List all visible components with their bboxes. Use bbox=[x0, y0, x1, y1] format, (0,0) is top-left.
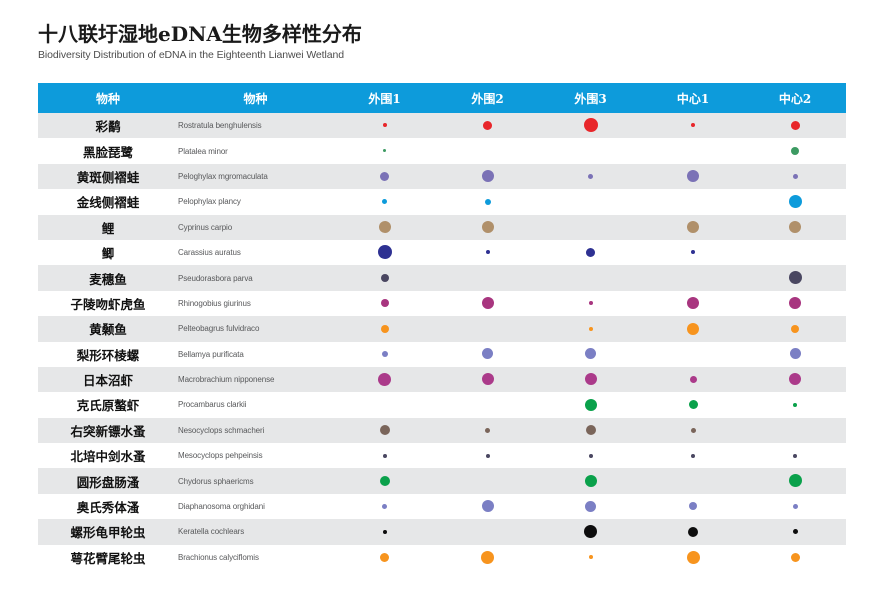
abundance-dot bbox=[585, 501, 596, 512]
abundance-dot bbox=[383, 149, 386, 152]
abundance-dot bbox=[793, 403, 797, 407]
column-header-3: 外围2 bbox=[436, 83, 539, 113]
abundance-cell bbox=[744, 443, 846, 468]
abundance-dot bbox=[586, 425, 596, 435]
abundance-cell bbox=[642, 240, 744, 265]
table-row: 梨形环棱螺Bellamya purificata bbox=[38, 342, 846, 367]
abundance-dot bbox=[486, 250, 490, 254]
biodiversity-matrix-table: 物种物种外围1外围2外围3中心1中心2 彩鹬Rostratula benghul… bbox=[38, 83, 846, 570]
species-name-latin: Chydorus sphaericms bbox=[178, 468, 333, 493]
abundance-cell bbox=[539, 468, 642, 493]
abundance-dot bbox=[586, 248, 595, 257]
abundance-dot bbox=[687, 551, 700, 564]
abundance-dot bbox=[482, 500, 494, 512]
page-title: 十八联圩湿地eDNA生物多样性分布 bbox=[38, 22, 362, 46]
species-name-latin: Mesocyclops pehpeinsis bbox=[178, 443, 333, 468]
abundance-cell bbox=[642, 215, 744, 240]
abundance-cell bbox=[642, 189, 744, 214]
table-row: 黄斑侧褶蛙Peloghylax mgromaculata bbox=[38, 164, 846, 189]
abundance-cell bbox=[744, 367, 846, 392]
abundance-cell bbox=[744, 494, 846, 519]
abundance-cell bbox=[642, 367, 744, 392]
abundance-dot bbox=[482, 221, 494, 233]
abundance-dot bbox=[793, 504, 798, 509]
abundance-cell bbox=[744, 240, 846, 265]
abundance-cell bbox=[744, 342, 846, 367]
abundance-dot bbox=[584, 118, 598, 132]
abundance-cell bbox=[333, 113, 436, 138]
abundance-dot bbox=[585, 348, 596, 359]
abundance-dot bbox=[687, 323, 699, 335]
abundance-cell bbox=[436, 164, 539, 189]
abundance-cell bbox=[436, 367, 539, 392]
abundance-cell bbox=[333, 494, 436, 519]
column-header-2: 外围1 bbox=[333, 83, 436, 113]
column-header-4: 外围3 bbox=[539, 83, 642, 113]
abundance-cell bbox=[642, 468, 744, 493]
column-header-6: 中心2 bbox=[744, 83, 846, 113]
abundance-cell bbox=[642, 494, 744, 519]
abundance-cell bbox=[333, 392, 436, 417]
abundance-cell bbox=[539, 240, 642, 265]
species-name-cn: 鲤 bbox=[38, 215, 178, 240]
abundance-cell bbox=[744, 291, 846, 316]
abundance-dot bbox=[791, 553, 800, 562]
abundance-dot bbox=[380, 172, 389, 181]
species-name-cn: 彩鹬 bbox=[38, 113, 178, 138]
abundance-dot bbox=[585, 373, 597, 385]
abundance-dot bbox=[486, 454, 490, 458]
abundance-dot bbox=[380, 553, 389, 562]
abundance-dot bbox=[789, 474, 802, 487]
abundance-cell bbox=[436, 545, 539, 570]
abundance-cell bbox=[539, 113, 642, 138]
species-name-cn: 右突新镖水蚤 bbox=[38, 418, 178, 443]
species-name-cn: 黑脸琵鹭 bbox=[38, 138, 178, 163]
species-name-latin: Cyprinus carpio bbox=[178, 215, 333, 240]
abundance-cell bbox=[744, 138, 846, 163]
species-name-latin: Rhinogobius giurinus bbox=[178, 291, 333, 316]
abundance-dot bbox=[382, 351, 388, 357]
species-name-latin: Rostratula benghulensis bbox=[178, 113, 333, 138]
abundance-dot bbox=[482, 297, 494, 309]
species-name-cn: 克氏原螯虾 bbox=[38, 392, 178, 417]
abundance-dot bbox=[689, 400, 698, 409]
abundance-cell bbox=[333, 215, 436, 240]
abundance-dot bbox=[381, 325, 389, 333]
table-row: 麦穗鱼Pseudorasbora parva bbox=[38, 265, 846, 290]
table-row: 北培中剑水蚤Mesocyclops pehpeinsis bbox=[38, 443, 846, 468]
abundance-cell bbox=[333, 468, 436, 493]
table-row: 圆形盘肠溞Chydorus sphaericms bbox=[38, 468, 846, 493]
abundance-cell bbox=[333, 240, 436, 265]
abundance-dot bbox=[589, 555, 593, 559]
abundance-cell bbox=[744, 189, 846, 214]
abundance-cell bbox=[744, 392, 846, 417]
species-name-latin: Pelteobagrus fulvidraco bbox=[178, 316, 333, 341]
abundance-cell bbox=[333, 265, 436, 290]
title-block: 十八联圩湿地eDNA生物多样性分布 Biodiversity Distribut… bbox=[38, 22, 362, 61]
abundance-cell bbox=[642, 392, 744, 417]
abundance-cell bbox=[436, 291, 539, 316]
abundance-cell bbox=[642, 545, 744, 570]
abundance-cell bbox=[744, 215, 846, 240]
column-header-5: 中心1 bbox=[642, 83, 744, 113]
column-header-1: 物种 bbox=[178, 83, 333, 113]
abundance-dot bbox=[584, 525, 597, 538]
abundance-cell bbox=[539, 215, 642, 240]
species-name-latin: Platalea minor bbox=[178, 138, 333, 163]
abundance-dot bbox=[485, 428, 490, 433]
abundance-cell bbox=[539, 519, 642, 544]
species-name-cn: 黄颡鱼 bbox=[38, 316, 178, 341]
abundance-cell bbox=[333, 443, 436, 468]
abundance-cell bbox=[333, 316, 436, 341]
abundance-cell bbox=[744, 113, 846, 138]
abundance-dot bbox=[483, 121, 492, 130]
abundance-cell bbox=[333, 418, 436, 443]
page-root: 十八联圩湿地eDNA生物多样性分布 Biodiversity Distribut… bbox=[0, 0, 895, 613]
species-name-latin: Brachionus calyciflomis bbox=[178, 545, 333, 570]
abundance-cell bbox=[642, 316, 744, 341]
abundance-cell bbox=[333, 164, 436, 189]
abundance-dot bbox=[793, 529, 798, 534]
abundance-dot bbox=[383, 123, 387, 127]
abundance-dot bbox=[687, 297, 699, 309]
table-header-row: 物种物种外围1外围2外围3中心1中心2 bbox=[38, 83, 846, 113]
species-name-cn: 奥氏秀体溞 bbox=[38, 494, 178, 519]
abundance-cell bbox=[436, 215, 539, 240]
table-row: 右突新镖水蚤Nesocyclops schmacheri bbox=[38, 418, 846, 443]
abundance-cell bbox=[436, 189, 539, 214]
abundance-dot bbox=[381, 299, 389, 307]
abundance-cell bbox=[642, 519, 744, 544]
abundance-cell bbox=[744, 265, 846, 290]
table-row: 黄颡鱼Pelteobagrus fulvidraco bbox=[38, 316, 846, 341]
abundance-dot bbox=[482, 373, 494, 385]
abundance-cell bbox=[436, 138, 539, 163]
abundance-cell bbox=[539, 164, 642, 189]
table-row: 奥氏秀体溞Diaphanosoma orghidani bbox=[38, 494, 846, 519]
abundance-cell bbox=[539, 316, 642, 341]
abundance-cell bbox=[642, 291, 744, 316]
species-name-cn: 梨形环棱螺 bbox=[38, 342, 178, 367]
abundance-cell bbox=[436, 494, 539, 519]
abundance-cell bbox=[436, 418, 539, 443]
abundance-cell bbox=[539, 418, 642, 443]
table-row: 日本沼虾Macrobrachium nipponense bbox=[38, 367, 846, 392]
abundance-dot bbox=[485, 199, 491, 205]
abundance-cell bbox=[539, 392, 642, 417]
abundance-cell bbox=[744, 418, 846, 443]
table-body: 彩鹬Rostratula benghulensis黑脸琵鹭Platalea mi… bbox=[38, 113, 846, 570]
abundance-cell bbox=[333, 342, 436, 367]
abundance-cell bbox=[744, 164, 846, 189]
abundance-cell bbox=[539, 494, 642, 519]
table-row: 鲤Cyprinus carpio bbox=[38, 215, 846, 240]
abundance-dot bbox=[791, 121, 800, 130]
abundance-cell bbox=[436, 113, 539, 138]
abundance-dot bbox=[382, 199, 387, 204]
abundance-dot bbox=[378, 373, 391, 386]
table-row: 金线侧褶蛙Pelophylax plancy bbox=[38, 189, 846, 214]
abundance-dot bbox=[791, 147, 799, 155]
abundance-cell bbox=[744, 468, 846, 493]
abundance-dot bbox=[589, 454, 593, 458]
abundance-cell bbox=[539, 138, 642, 163]
abundance-dot bbox=[691, 123, 695, 127]
abundance-cell bbox=[436, 316, 539, 341]
abundance-dot bbox=[688, 527, 698, 537]
abundance-cell bbox=[436, 519, 539, 544]
abundance-dot bbox=[789, 195, 802, 208]
abundance-cell bbox=[436, 443, 539, 468]
table-row: 鲫Carassius auratus bbox=[38, 240, 846, 265]
abundance-cell bbox=[333, 138, 436, 163]
abundance-cell bbox=[642, 342, 744, 367]
species-name-cn: 子陵吻虾虎鱼 bbox=[38, 291, 178, 316]
abundance-dot bbox=[690, 376, 697, 383]
abundance-cell bbox=[436, 392, 539, 417]
page-subtitle: Biodiversity Distribution of eDNA in the… bbox=[38, 49, 362, 61]
abundance-dot bbox=[793, 454, 797, 458]
abundance-dot bbox=[482, 170, 494, 182]
abundance-dot bbox=[589, 327, 593, 331]
abundance-dot bbox=[380, 425, 390, 435]
abundance-dot bbox=[789, 373, 801, 385]
abundance-dot bbox=[589, 301, 593, 305]
abundance-dot bbox=[378, 245, 392, 259]
species-name-cn: 螺形龟甲轮虫 bbox=[38, 519, 178, 544]
table-head: 物种物种外围1外围2外围3中心1中心2 bbox=[38, 83, 846, 113]
abundance-dot bbox=[689, 502, 697, 510]
abundance-dot bbox=[687, 170, 699, 182]
abundance-dot bbox=[687, 221, 699, 233]
abundance-dot bbox=[381, 274, 389, 282]
abundance-cell bbox=[642, 265, 744, 290]
abundance-dot bbox=[585, 475, 597, 487]
abundance-cell bbox=[333, 189, 436, 214]
species-name-latin: Peloghylax mgromaculata bbox=[178, 164, 333, 189]
species-name-cn: 黄斑侧褶蛙 bbox=[38, 164, 178, 189]
species-name-cn: 鲫 bbox=[38, 240, 178, 265]
species-name-latin: Diaphanosoma orghidani bbox=[178, 494, 333, 519]
abundance-dot bbox=[691, 454, 695, 458]
abundance-cell bbox=[436, 342, 539, 367]
abundance-dot bbox=[383, 454, 387, 458]
abundance-cell bbox=[333, 519, 436, 544]
abundance-cell bbox=[539, 189, 642, 214]
abundance-dot bbox=[382, 504, 387, 509]
abundance-cell bbox=[744, 316, 846, 341]
abundance-dot bbox=[482, 348, 493, 359]
abundance-cell bbox=[333, 291, 436, 316]
abundance-dot bbox=[691, 428, 696, 433]
abundance-cell bbox=[436, 468, 539, 493]
abundance-cell bbox=[642, 113, 744, 138]
abundance-cell bbox=[436, 240, 539, 265]
species-name-latin: Bellamya purificata bbox=[178, 342, 333, 367]
abundance-dot bbox=[789, 221, 801, 233]
abundance-dot bbox=[789, 271, 802, 284]
species-name-cn: 麦穗鱼 bbox=[38, 265, 178, 290]
abundance-dot bbox=[791, 325, 799, 333]
abundance-cell bbox=[642, 164, 744, 189]
abundance-dot bbox=[790, 348, 801, 359]
species-name-latin: Pelophylax plancy bbox=[178, 189, 333, 214]
abundance-dot bbox=[379, 221, 391, 233]
table-row: 萼花臂尾轮虫Brachionus calyciflomis bbox=[38, 545, 846, 570]
abundance-dot bbox=[691, 250, 695, 254]
abundance-cell bbox=[642, 443, 744, 468]
species-name-cn: 圆形盘肠溞 bbox=[38, 468, 178, 493]
abundance-cell bbox=[744, 519, 846, 544]
abundance-cell bbox=[333, 367, 436, 392]
abundance-dot bbox=[588, 174, 593, 179]
species-name-cn: 金线侧褶蛙 bbox=[38, 189, 178, 214]
abundance-dot bbox=[789, 297, 801, 309]
abundance-dot bbox=[793, 174, 798, 179]
table-row: 克氏原螯虾Procambarus clarkii bbox=[38, 392, 846, 417]
species-name-latin: Nesocyclops schmacheri bbox=[178, 418, 333, 443]
species-name-cn: 北培中剑水蚤 bbox=[38, 443, 178, 468]
species-name-latin: Macrobrachium nipponense bbox=[178, 367, 333, 392]
table-row: 螺形龟甲轮虫Keratella cochlears bbox=[38, 519, 846, 544]
species-name-latin: Keratella cochlears bbox=[178, 519, 333, 544]
abundance-cell bbox=[539, 342, 642, 367]
abundance-cell bbox=[744, 545, 846, 570]
abundance-cell bbox=[333, 545, 436, 570]
abundance-cell bbox=[642, 138, 744, 163]
species-name-latin: Carassius auratus bbox=[178, 240, 333, 265]
species-name-cn: 日本沼虾 bbox=[38, 367, 178, 392]
abundance-cell bbox=[539, 265, 642, 290]
column-header-0: 物种 bbox=[38, 83, 178, 113]
species-name-cn: 萼花臂尾轮虫 bbox=[38, 545, 178, 570]
abundance-cell bbox=[539, 367, 642, 392]
abundance-cell bbox=[539, 443, 642, 468]
abundance-dot bbox=[585, 399, 597, 411]
table-row: 黑脸琵鹭Platalea minor bbox=[38, 138, 846, 163]
abundance-dot bbox=[481, 551, 494, 564]
abundance-cell bbox=[436, 265, 539, 290]
species-name-latin: Procambarus clarkii bbox=[178, 392, 333, 417]
table-row: 彩鹬Rostratula benghulensis bbox=[38, 113, 846, 138]
abundance-dot bbox=[380, 476, 390, 486]
species-name-latin: Pseudorasbora parva bbox=[178, 265, 333, 290]
abundance-cell bbox=[642, 418, 744, 443]
abundance-cell bbox=[539, 545, 642, 570]
table-row: 子陵吻虾虎鱼Rhinogobius giurinus bbox=[38, 291, 846, 316]
abundance-dot bbox=[383, 530, 387, 534]
abundance-cell bbox=[539, 291, 642, 316]
